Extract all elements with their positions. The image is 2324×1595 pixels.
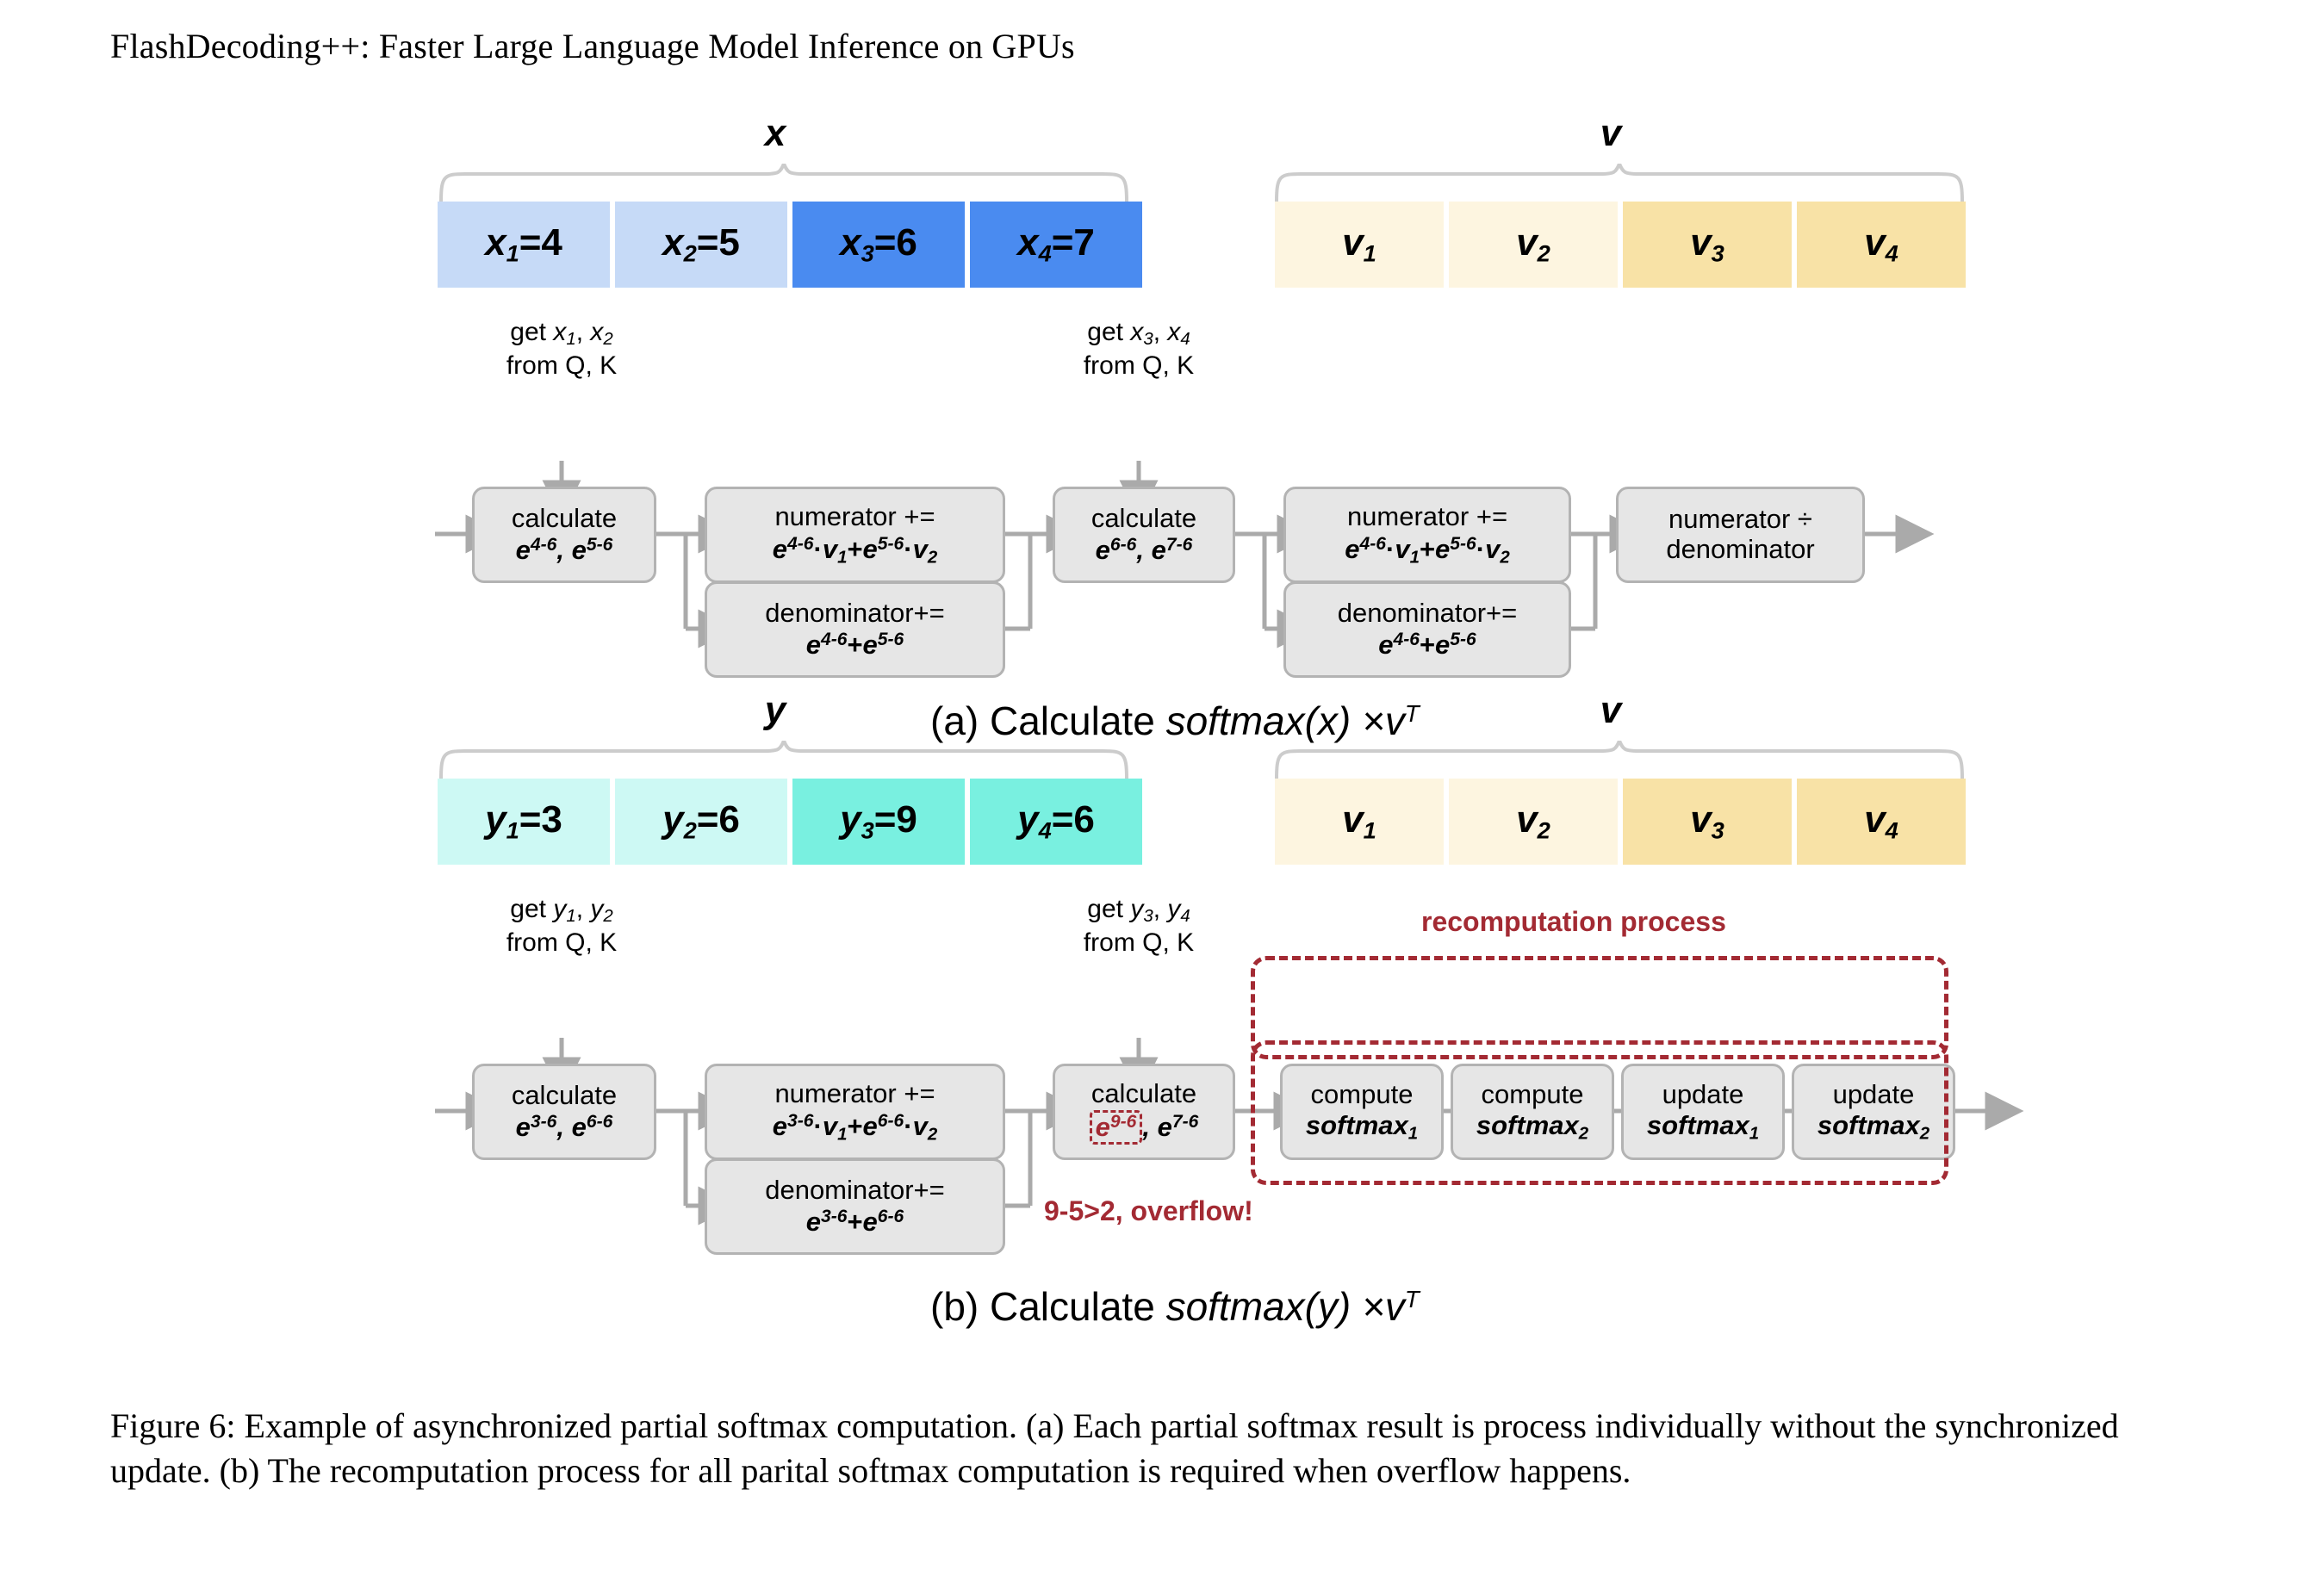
v-cell-a-3-label: v3 (1690, 221, 1724, 268)
panel-a-caption-italic: softmax(x) (1166, 698, 1352, 743)
panel-b-caption-prefix: (b) Calculate (930, 1284, 1166, 1329)
panel-b-caption-times: ×v (1351, 1284, 1405, 1329)
node-calculate-1a-title: calculate (512, 504, 617, 534)
panel-a-caption-sup: T (1405, 700, 1420, 727)
panel-a-caption-prefix: (a) Calculate (930, 698, 1166, 743)
y-cell-1: y1=3 (438, 779, 610, 865)
v-cell-a-2: v2 (1449, 202, 1618, 288)
get-y1-y2-line2: from Q, K (441, 928, 682, 959)
node-numerator-1a-expr: e4-6·v1+e5-6·v2 (773, 534, 937, 568)
recomputation-group-box (1251, 1040, 1948, 1185)
x-array: x1=4 x2=5 x3=6 x4=7 (438, 202, 1142, 288)
v-array-a: v1 v2 v3 v4 (1275, 202, 1966, 288)
get-x3-x4-annotation: get x3, x4 from Q, K (1018, 317, 1259, 382)
x-cell-2: x2=5 (615, 202, 787, 288)
x-cell-3: x3=6 (792, 202, 965, 288)
v-array-a-brace (1275, 164, 1964, 202)
v-cell-b-4: v4 (1797, 779, 1966, 865)
y-cell-4-label: y4=6 (1017, 798, 1095, 845)
panel-b-caption-italic: softmax(y) (1166, 1284, 1352, 1329)
node-divide-a[interactable]: numerator ÷ denominator (1616, 487, 1865, 583)
panel-a-caption-times: ×v (1351, 698, 1405, 743)
recomputation-process-label: recomputation process (1421, 906, 1726, 938)
get-x1-x2-line2: from Q, K (441, 351, 682, 382)
node-denominator-2a[interactable]: denominator+= e4-6+e5-6 (1283, 581, 1571, 678)
node-calculate-2b-expr: e9-6, e7-6 (1090, 1110, 1199, 1145)
node-divide-a-line1: numerator ÷ (1668, 505, 1812, 535)
node-calculate-1b-expr: e3-6, e6-6 (516, 1112, 613, 1143)
node-calculate-1b-title: calculate (512, 1081, 617, 1111)
v-cell-b-2-label: v2 (1516, 798, 1550, 845)
y-array-brace (439, 741, 1128, 779)
node-denominator-1b-title: denominator+= (765, 1176, 945, 1206)
v-cell-b-1: v1 (1275, 779, 1444, 865)
figure-6: x x1=4 x2=5 x3=6 x4=7 v v1 v2 (0, 95, 2324, 1387)
panel-b-caption: (b) Calculate softmax(y) ×vT (930, 1283, 1420, 1330)
v-array-b-brace (1275, 741, 1964, 779)
v-cell-b-1-label: v1 (1342, 798, 1376, 845)
v-array-a-label: v (1559, 112, 1662, 155)
y-cell-1-label: y1=3 (485, 798, 562, 845)
x-cell-4-label: x4=7 (1017, 221, 1095, 268)
v-cell-b-2: v2 (1449, 779, 1618, 865)
x-cell-4: x4=7 (970, 202, 1142, 288)
node-denominator-1a-expr: e4-6+e5-6 (806, 630, 904, 661)
panel-a-caption: (a) Calculate softmax(x) ×vT (930, 698, 1420, 744)
node-denominator-1a-title: denominator+= (765, 599, 945, 629)
v-cell-a-4: v4 (1797, 202, 1966, 288)
node-calculate-1a[interactable]: calculate e4-6, e5-6 (472, 487, 656, 583)
node-numerator-1b[interactable]: numerator += e3-6·v1+e6-6·v2 (705, 1064, 1005, 1160)
running-header: FlashDecoding++: Faster Large Language M… (110, 26, 1075, 66)
v-cell-a-1-label: v1 (1342, 221, 1376, 268)
get-x1-x2-annotation: get x1, x2 from Q, K (441, 317, 682, 382)
node-calculate-2a[interactable]: calculate e6-6, e7-6 (1053, 487, 1235, 583)
node-numerator-2a[interactable]: numerator += e4-6·v1+e5-6·v2 (1283, 487, 1571, 583)
y-array: y1=3 y2=6 y3=9 y4=6 (438, 779, 1142, 865)
y-array-label: y (724, 689, 827, 732)
y-cell-3-label: y3=9 (840, 798, 917, 845)
node-numerator-2a-expr: e4-6·v1+e5-6·v2 (1345, 534, 1509, 568)
node-denominator-2a-title: denominator+= (1338, 599, 1518, 629)
v-cell-a-1: v1 (1275, 202, 1444, 288)
figure-caption: Figure 6: Example of asynchronized parti… (110, 1404, 2221, 1493)
y-cell-3: y3=9 (792, 779, 965, 865)
get-y1-y2-annotation: get y1, y2 from Q, K (441, 894, 682, 959)
node-denominator-2a-expr: e4-6+e5-6 (1378, 630, 1476, 661)
v-cell-b-4-label: v4 (1864, 798, 1898, 845)
node-numerator-1b-title: numerator += (774, 1079, 935, 1109)
y-cell-2-label: y2=6 (662, 798, 740, 845)
node-calculate-2a-title: calculate (1091, 504, 1196, 534)
x-cell-1-label: x1=4 (485, 221, 562, 268)
get-y3-y4-line2: from Q, K (1018, 928, 1259, 959)
v-cell-b-3: v3 (1623, 779, 1792, 865)
overflow-term-highlight: e9-6 (1090, 1110, 1143, 1145)
x-array-brace (439, 164, 1128, 202)
get-x3-x4-line2: from Q, K (1018, 351, 1259, 382)
v-array-b: v1 v2 v3 v4 (1275, 779, 1966, 865)
v-cell-b-3-label: v3 (1690, 798, 1724, 845)
v-cell-a-2-label: v2 (1516, 221, 1550, 268)
node-denominator-1b[interactable]: denominator+= e3-6+e6-6 (705, 1158, 1005, 1255)
node-calculate-1a-expr: e4-6, e5-6 (516, 535, 613, 566)
v-array-b-label: v (1559, 689, 1662, 732)
panel-b-caption-sup: T (1405, 1286, 1420, 1313)
y-cell-2: y2=6 (615, 779, 787, 865)
x-cell-3-label: x3=6 (840, 221, 917, 268)
node-numerator-2a-title: numerator += (1347, 502, 1507, 532)
node-numerator-1a-title: numerator += (774, 502, 935, 532)
x-cell-2-label: x2=5 (662, 221, 740, 268)
v-cell-a-3: v3 (1623, 202, 1792, 288)
node-calculate-2a-expr: e6-6, e7-6 (1096, 535, 1193, 566)
y-cell-4: y4=6 (970, 779, 1142, 865)
node-calculate-1b[interactable]: calculate e3-6, e6-6 (472, 1064, 656, 1160)
node-calculate-2b[interactable]: calculate e9-6, e7-6 (1053, 1064, 1235, 1160)
x-cell-1: x1=4 (438, 202, 610, 288)
node-numerator-1b-expr: e3-6·v1+e6-6·v2 (773, 1111, 937, 1145)
node-divide-a-line2: denominator (1666, 535, 1814, 565)
node-numerator-1a[interactable]: numerator += e4-6·v1+e5-6·v2 (705, 487, 1005, 583)
node-denominator-1a[interactable]: denominator+= e4-6+e5-6 (705, 581, 1005, 678)
x-array-label: x (724, 112, 827, 155)
get-y3-y4-annotation: get y3, y4 from Q, K (1018, 894, 1259, 959)
v-cell-a-4-label: v4 (1864, 221, 1898, 268)
node-calculate-2b-title: calculate (1091, 1079, 1196, 1109)
overflow-note: 9-5>2, overflow! (1044, 1195, 1253, 1227)
node-denominator-1b-expr: e3-6+e6-6 (806, 1207, 904, 1238)
